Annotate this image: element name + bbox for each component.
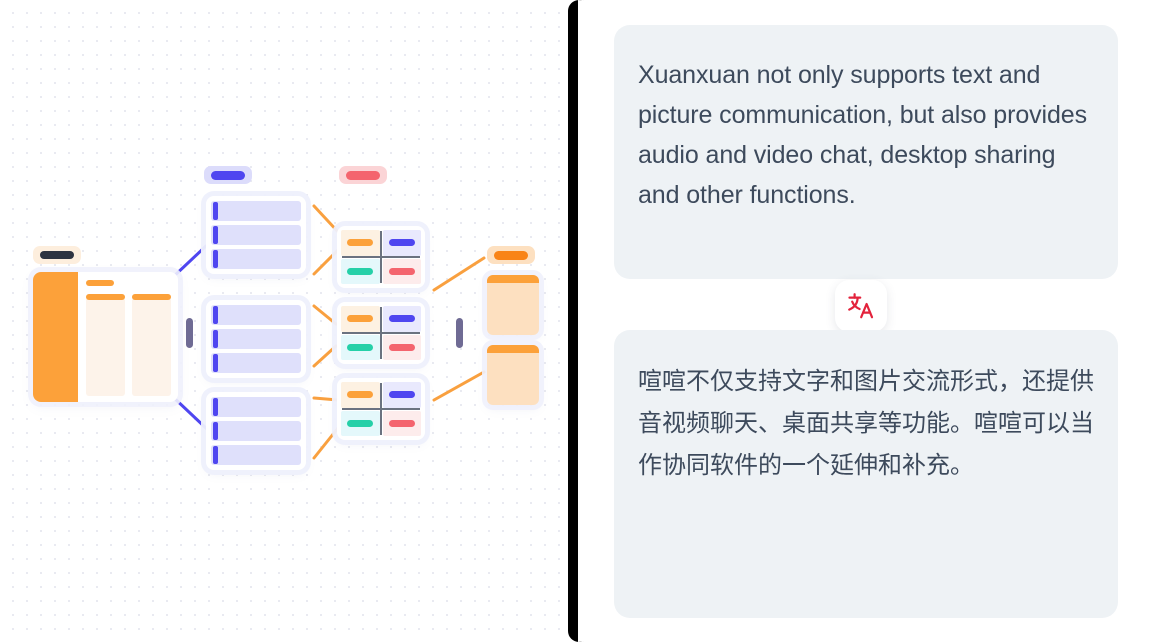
- doc-card-2[interactable]: [487, 345, 539, 405]
- quadrant-divider-horizontal: [342, 256, 420, 258]
- quadrant-cell-red[interactable]: [383, 335, 422, 361]
- list-card-1[interactable]: [206, 196, 306, 274]
- app-card-column: [86, 294, 125, 396]
- quadrant-divider-horizontal: [342, 408, 420, 410]
- quadrant-cell-teal[interactable]: [341, 259, 380, 285]
- handle-right[interactable]: [456, 318, 463, 348]
- quadrant-cell-teal[interactable]: [341, 411, 380, 437]
- quadrant-cell-red[interactable]: [383, 259, 422, 285]
- app-card-sidebar: [33, 272, 78, 402]
- tag-indigo-pill: [211, 171, 245, 180]
- quadrant-cell-orange[interactable]: [341, 306, 380, 332]
- tag-dark[interactable]: [33, 246, 81, 264]
- translated-text: 喧喧不仅支持文字和图片交流形式，还提供音视频聊天、桌面共享等功能。喧喧可以当作协…: [638, 360, 1094, 486]
- source-text-card: Xuanxuan not only supports text and pict…: [614, 25, 1118, 279]
- list-row[interactable]: [211, 421, 301, 441]
- screenshot-root: Xuanxuan not only supports text and pict…: [0, 0, 1160, 642]
- quadrant-cell-indigo[interactable]: [383, 382, 422, 408]
- doc-card-header-bar: [487, 345, 539, 353]
- doc-card-header-bar: [487, 275, 539, 283]
- list-row[interactable]: [211, 225, 301, 245]
- tag-orange-pill: [494, 251, 528, 260]
- source-text: Xuanxuan not only supports text and pict…: [638, 55, 1094, 215]
- handle-left[interactable]: [186, 318, 193, 348]
- diagram-canvas: [0, 0, 568, 642]
- quadrant-cell-orange[interactable]: [341, 230, 380, 256]
- tag-indigo[interactable]: [204, 166, 252, 184]
- translated-text-card: 喧喧不仅支持文字和图片交流形式，还提供音视频聊天、桌面共享等功能。喧喧可以当作协…: [614, 330, 1118, 618]
- doc-card-1[interactable]: [487, 275, 539, 335]
- app-card-column: [132, 294, 171, 396]
- quadrant-divider-horizontal: [342, 332, 420, 334]
- quadrant-card-1[interactable]: [337, 226, 425, 288]
- tag-dark-pill: [40, 251, 74, 259]
- app-card-body: [78, 272, 178, 402]
- list-row[interactable]: [211, 249, 301, 269]
- app-card-title-bar: [86, 280, 114, 286]
- list-card-2[interactable]: [206, 300, 306, 378]
- tag-red-pill: [346, 171, 380, 180]
- quadrant-cell-red[interactable]: [383, 411, 422, 437]
- flow-diagram: [0, 0, 568, 642]
- translate-icon: [846, 291, 876, 321]
- quadrant-cell-orange[interactable]: [341, 382, 380, 408]
- list-row[interactable]: [211, 445, 301, 465]
- translation-panel: Xuanxuan not only supports text and pict…: [590, 0, 1160, 642]
- quadrant-cell-indigo[interactable]: [383, 306, 422, 332]
- list-row[interactable]: [211, 353, 301, 373]
- list-row[interactable]: [211, 201, 301, 221]
- quadrant-cell-teal[interactable]: [341, 335, 380, 361]
- tag-orange[interactable]: [487, 246, 535, 264]
- quadrant-cell-indigo[interactable]: [383, 230, 422, 256]
- list-row[interactable]: [211, 397, 301, 417]
- list-row[interactable]: [211, 329, 301, 349]
- quadrant-card-3[interactable]: [337, 378, 425, 440]
- app-card[interactable]: [33, 272, 178, 402]
- list-row[interactable]: [211, 305, 301, 325]
- list-card-3[interactable]: [206, 392, 306, 470]
- tag-red[interactable]: [339, 166, 387, 184]
- quadrant-card-2[interactable]: [337, 302, 425, 364]
- translate-icon-button[interactable]: [835, 280, 887, 332]
